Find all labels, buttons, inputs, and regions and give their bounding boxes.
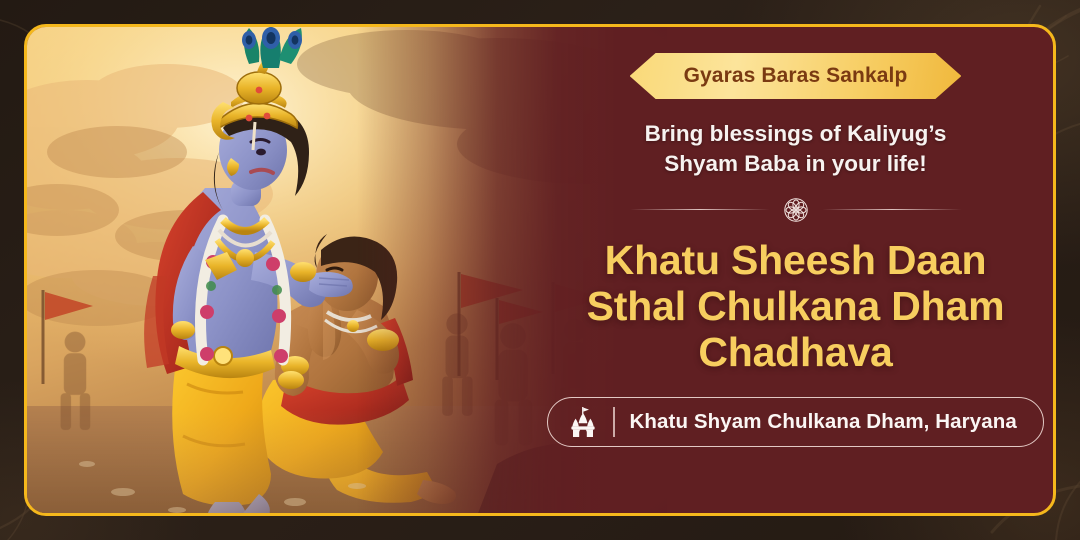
rosette-flower-icon: [783, 197, 809, 223]
banner-card: Gyaras Baras Sankalp Bring blessings of …: [24, 24, 1056, 516]
title-line-2: Sthal Chulkana Dham: [587, 284, 1005, 330]
location-label: Khatu Shyam Chulkana Dham, Haryana: [630, 410, 1017, 434]
banner-subtitle: Bring blessings of Kaliyug’s Shyam Baba …: [645, 119, 947, 180]
pill-divider: [613, 407, 614, 437]
ornamental-divider: [630, 197, 962, 223]
content-panel: Gyaras Baras Sankalp Bring blessings of …: [532, 27, 1056, 513]
subtitle-line-1: Bring blessings of Kaliyug’s: [645, 119, 947, 149]
title-line-3: Chadhava: [587, 330, 1005, 376]
banner-stage: Gyaras Baras Sankalp Bring blessings of …: [0, 0, 1080, 540]
divider-rule-left: [630, 209, 770, 210]
divider-rule-right: [822, 209, 962, 210]
subtitle-line-2: Shyam Baba in your life!: [645, 149, 947, 179]
sankalp-ribbon-badge[interactable]: Gyaras Baras Sankalp: [630, 53, 962, 99]
ribbon-label: Gyaras Baras Sankalp: [684, 64, 908, 88]
temple-icon: [568, 406, 598, 438]
title-line-1: Khatu Sheesh Daan: [587, 238, 1005, 284]
page-title: Khatu Sheesh Daan Sthal Chulkana Dham Ch…: [587, 238, 1005, 376]
location-pill[interactable]: Khatu Shyam Chulkana Dham, Haryana: [547, 397, 1044, 447]
